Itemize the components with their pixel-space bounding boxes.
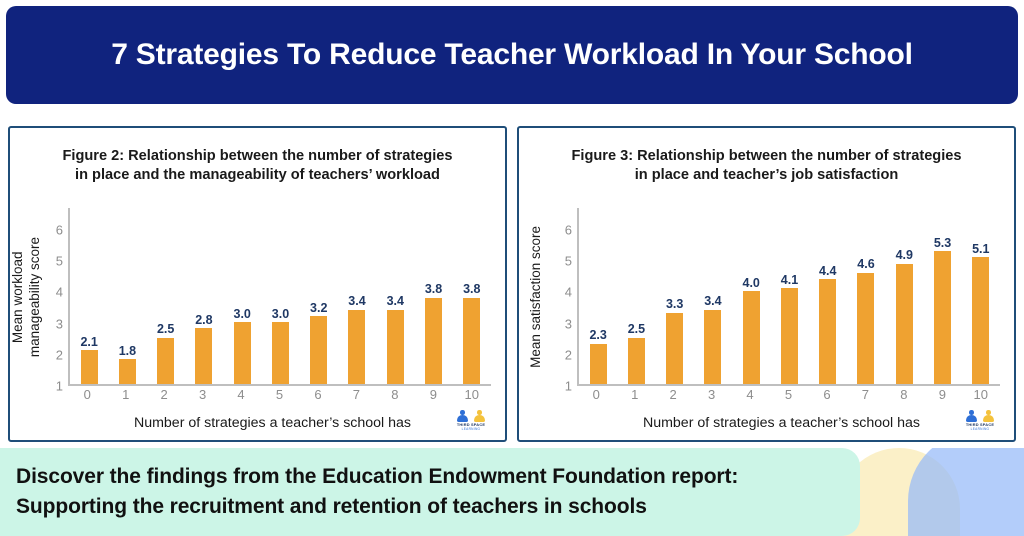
chart-title-line-1: Figure 2: Relationship between the numbe…	[62, 148, 452, 164]
x-axis-tick-labels: 012345678910	[68, 386, 491, 406]
chart-title-line-1: Figure 3: Relationship between the numbe…	[571, 148, 961, 164]
plot-area: 2.32.53.33.44.04.14.44.64.95.35.1	[577, 208, 1000, 386]
y-tick-label: 4	[565, 285, 572, 300]
third-space-learning-logo: THIRD SPACE LEARNING	[958, 404, 1002, 434]
bar	[590, 344, 607, 384]
bar-column: 3.8	[453, 208, 491, 384]
logo-person-yellow-icon	[983, 410, 994, 421]
y-tick-label: 5	[56, 254, 63, 269]
bar-column: 3.8	[414, 208, 452, 384]
bar-value-label: 4.4	[819, 265, 836, 278]
chart-title-figure-2: Figure 2: Relationship between the numbe…	[10, 128, 505, 186]
bar-value-label: 3.4	[348, 295, 365, 308]
bar-series: 2.11.82.52.83.03.03.23.43.43.83.8	[70, 208, 491, 384]
x-tick-label: 7	[337, 387, 375, 402]
plot-row: Mean workload manageability score 123456…	[10, 208, 505, 386]
logo-line-2: LEARNING	[462, 427, 481, 431]
bar-column: 2.8	[185, 208, 223, 384]
bar-column: 3.4	[376, 208, 414, 384]
bar-column: 4.1	[770, 208, 808, 384]
bar-column: 4.9	[885, 208, 923, 384]
bar	[157, 338, 174, 384]
charts-container: Figure 2: Relationship between the numbe…	[8, 126, 1016, 442]
y-tick-label: 3	[565, 316, 572, 331]
bar-column: 3.4	[338, 208, 376, 384]
bar-value-label: 2.3	[589, 329, 606, 342]
logo-person-yellow-head	[477, 410, 482, 415]
plot-row: Mean satisfaction score 123456 2.32.53.3…	[519, 208, 1014, 386]
page-header: 7 Strategies To Reduce Teacher Workload …	[6, 6, 1018, 104]
x-tick-label: 8	[376, 387, 414, 402]
y-tick-label: 2	[565, 347, 572, 362]
bar-column: 3.0	[223, 208, 261, 384]
plot-wrapper: Mean workload manageability score 123456…	[10, 208, 505, 440]
y-axis-title: Mean workload manageability score	[10, 208, 44, 386]
x-axis-title: Number of strategies a teacher’s school …	[519, 406, 1014, 440]
bar-column: 2.3	[579, 208, 617, 384]
bar-value-label: 3.3	[666, 298, 683, 311]
bar-column: 3.4	[694, 208, 732, 384]
x-axis-title-text: Number of strategies a teacher’s school …	[643, 415, 920, 431]
bar-value-label: 1.8	[119, 345, 136, 358]
x-tick-label: 6	[299, 387, 337, 402]
bar	[666, 313, 683, 384]
chart-title-line-2: in place and the manageability of teache…	[75, 167, 440, 183]
bar-value-label: 5.3	[934, 237, 951, 250]
x-tick-label: 5	[260, 387, 298, 402]
bar	[743, 291, 760, 384]
x-tick-label: 9	[414, 387, 452, 402]
bar	[234, 322, 251, 384]
x-tick-label: 4	[731, 387, 769, 402]
bar-column: 5.3	[923, 208, 961, 384]
logo-person-yellow-icon	[474, 410, 485, 421]
y-axis-title: Mean satisfaction score	[519, 208, 553, 386]
x-axis-ticks: 012345678910	[519, 386, 1014, 406]
logo-figures-icon	[965, 407, 995, 421]
y-tick-label: 6	[565, 222, 572, 237]
logo-person-blue-body	[966, 415, 977, 422]
bar-value-label: 2.5	[628, 323, 645, 336]
cta-banner: Discover the findings from the Education…	[0, 448, 860, 536]
bar-column: 4.0	[732, 208, 770, 384]
bar-column: 4.6	[847, 208, 885, 384]
x-tick-label: 10	[962, 387, 1000, 402]
bar	[272, 322, 289, 384]
bar-value-label: 2.1	[80, 336, 97, 349]
chart-title-line-2: in place and teacher’s job satisfaction	[635, 167, 899, 183]
y-axis-ticks: 123456	[44, 208, 68, 386]
y-axis-title-text: Mean workload manageability score	[10, 237, 44, 357]
bar	[704, 310, 721, 384]
bar-column: 3.3	[656, 208, 694, 384]
cta-line-1: Discover the findings from the Education…	[16, 462, 860, 492]
x-tick-label: 0	[577, 387, 615, 402]
bar-value-label: 2.5	[157, 323, 174, 336]
logo-person-blue-head	[460, 410, 465, 415]
x-tick-label: 9	[923, 387, 961, 402]
bar	[119, 359, 136, 384]
bar-column: 2.1	[70, 208, 108, 384]
bar-series: 2.32.53.33.44.04.14.44.64.95.35.1	[579, 208, 1000, 384]
y-axis-title-text: Mean satisfaction score	[528, 226, 545, 368]
y-tick-label: 4	[56, 285, 63, 300]
bar-value-label: 3.8	[425, 283, 442, 296]
page-title: 7 Strategies To Reduce Teacher Workload …	[111, 38, 913, 72]
bar	[195, 328, 212, 384]
y-tick-label: 1	[56, 379, 63, 394]
logo-person-yellow-body	[983, 415, 994, 422]
third-space-learning-logo: THIRD SPACE LEARNING	[449, 404, 493, 434]
bar-value-label: 3.0	[234, 308, 251, 321]
x-tick-label: 3	[692, 387, 730, 402]
x-ticks-spacer-right	[491, 386, 505, 406]
logo-person-blue-body	[457, 415, 468, 422]
bar	[310, 316, 327, 384]
bar	[819, 279, 836, 384]
bottom-band: Discover the findings from the Education…	[0, 448, 1024, 536]
bar	[896, 264, 913, 384]
bar-value-label: 4.0	[743, 277, 760, 290]
y-tick-label: 5	[565, 254, 572, 269]
plot-area: 2.11.82.52.83.03.03.23.43.43.83.8	[68, 208, 491, 386]
bar-value-label: 2.8	[195, 314, 212, 327]
bar-column: 3.0	[261, 208, 299, 384]
chart-panel-figure-3: Figure 3: Relationship between the numbe…	[517, 126, 1016, 442]
bar	[628, 338, 645, 384]
x-axis-title: Number of strategies a teacher’s school …	[10, 406, 505, 440]
x-axis-tick-labels: 012345678910	[577, 386, 1000, 406]
bar	[781, 288, 798, 384]
bar-value-label: 3.4	[704, 295, 721, 308]
x-tick-label: 1	[615, 387, 653, 402]
bar-column: 4.4	[809, 208, 847, 384]
x-ticks-spacer-right	[1000, 386, 1014, 406]
chart-panel-figure-2: Figure 2: Relationship between the numbe…	[8, 126, 507, 442]
plot-wrapper: Mean satisfaction score 123456 2.32.53.3…	[519, 208, 1014, 440]
bar-column: 3.2	[300, 208, 338, 384]
x-tick-label: 5	[769, 387, 807, 402]
x-tick-label: 2	[145, 387, 183, 402]
x-tick-label: 7	[846, 387, 884, 402]
bar	[972, 257, 989, 384]
bar	[387, 310, 404, 384]
bar	[934, 251, 951, 384]
bar-value-label: 5.1	[972, 243, 989, 256]
x-tick-label: 2	[654, 387, 692, 402]
logo-person-blue-icon	[966, 410, 977, 421]
bar	[81, 350, 98, 384]
bar-value-label: 4.9	[896, 249, 913, 262]
x-tick-label: 6	[808, 387, 846, 402]
x-axis-title-text: Number of strategies a teacher’s school …	[134, 415, 411, 431]
logo-person-yellow-body	[474, 415, 485, 422]
x-tick-label: 10	[453, 387, 491, 402]
chart-title-figure-3: Figure 3: Relationship between the numbe…	[519, 128, 1014, 186]
bar-column: 1.8	[108, 208, 146, 384]
bar-value-label: 4.1	[781, 274, 798, 287]
logo-person-yellow-head	[986, 410, 991, 415]
x-tick-label: 4	[222, 387, 260, 402]
x-tick-label: 8	[885, 387, 923, 402]
bar	[425, 298, 442, 384]
bar	[463, 298, 480, 384]
x-tick-label: 1	[106, 387, 144, 402]
y-tick-label: 2	[56, 347, 63, 362]
bar-value-label: 4.6	[857, 258, 874, 271]
logo-line-2: LEARNING	[971, 427, 990, 431]
y-axis-ticks: 123456	[553, 208, 577, 386]
y-tick-label: 3	[56, 316, 63, 331]
bar	[857, 273, 874, 384]
logo-person-blue-icon	[457, 410, 468, 421]
bar-value-label: 3.4	[387, 295, 404, 308]
bar-column: 2.5	[617, 208, 655, 384]
cta-line-2: Supporting the recruitment and retention…	[16, 492, 860, 522]
y-tick-label: 1	[565, 379, 572, 394]
logo-person-blue-head	[969, 410, 974, 415]
x-tick-label: 3	[183, 387, 221, 402]
decorative-arch-blue	[908, 448, 1024, 536]
bar-value-label: 3.8	[463, 283, 480, 296]
x-tick-label: 0	[68, 387, 106, 402]
bar-column: 5.1	[962, 208, 1000, 384]
x-axis-ticks: 012345678910	[10, 386, 505, 406]
logo-figures-icon	[456, 407, 486, 421]
y-tick-label: 6	[56, 222, 63, 237]
bar-column: 2.5	[147, 208, 185, 384]
bar-value-label: 3.2	[310, 302, 327, 315]
bar-value-label: 3.0	[272, 308, 289, 321]
bar	[348, 310, 365, 384]
